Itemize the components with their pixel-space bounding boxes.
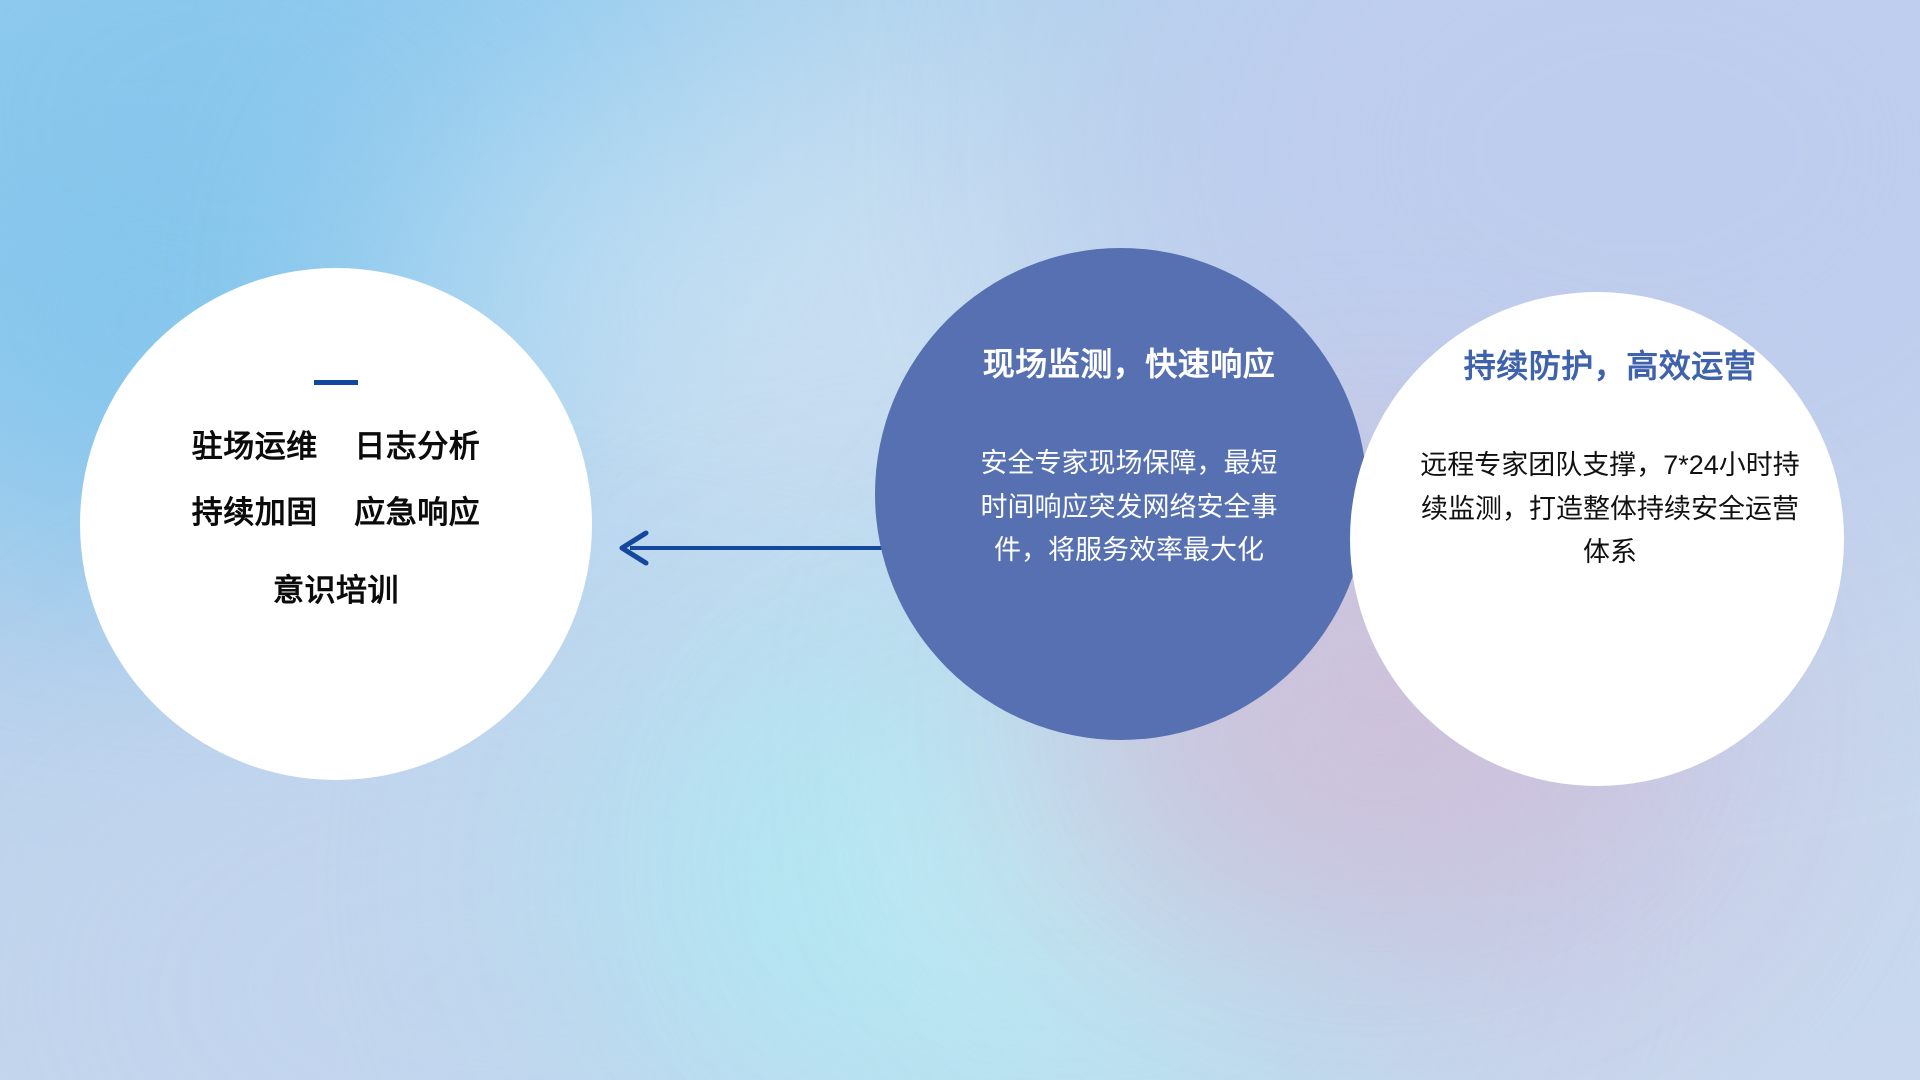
middle-circle-title: 现场监测，快速响应	[983, 348, 1276, 380]
left-circle-content: 驻场运维 日志分析 持续加固 应急响应 意识培训	[80, 268, 592, 780]
left-capability-line-1: 驻场运维 日志分析	[192, 431, 480, 462]
left-capability-line-3: 意识培训	[273, 575, 399, 606]
slide-canvas: 驻场运维 日志分析 持续加固 应急响应 意识培训 现场监测，快速响应 安全专家现…	[0, 0, 1920, 1080]
right-circle-title: 持续防护，高效运营	[1464, 350, 1757, 382]
right-circle-content: 持续防护，高效运营 远程专家团队支撑，7*24小时持续监测，打造整体持续安全运营…	[1350, 292, 1844, 786]
accent-dash-divider	[314, 380, 358, 385]
middle-circle-content: 现场监测，快速响应 安全专家现场保障，最短时间响应突发网络安全事件，将服务效率最…	[875, 248, 1367, 740]
middle-circle-body: 安全专家现场保障，最短时间响应突发网络安全事件，将服务效率最大化	[970, 442, 1288, 573]
flow-arrow-icon	[608, 520, 884, 576]
right-circle-body: 远程专家团队支撑，7*24小时持续监测，打造整体持续安全运营体系	[1410, 444, 1810, 575]
left-capability-line-2: 持续加固 应急响应	[192, 497, 480, 528]
